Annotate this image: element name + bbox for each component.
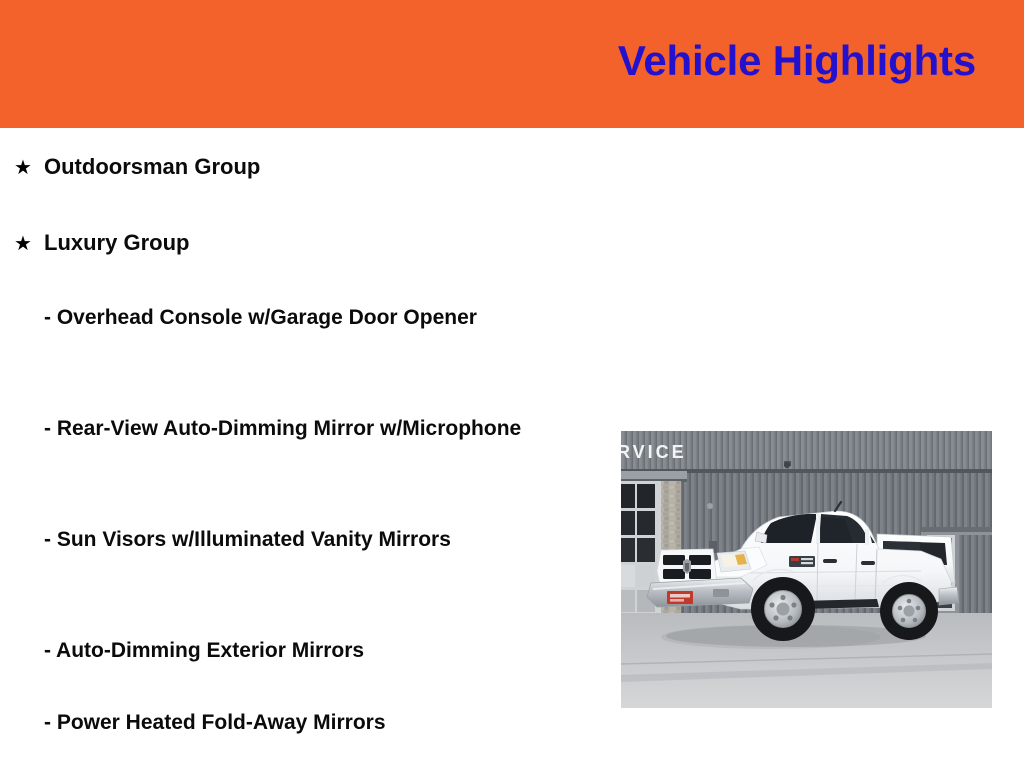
- list-item-feature: - Sun Visors w/Illuminated Vanity Mirror…: [44, 526, 564, 554]
- list-item-feature: - Overhead Console w/Garage Door Opener: [44, 304, 564, 332]
- list-item-group: ★ Luxury Group: [14, 230, 189, 255]
- front-wheel: [751, 577, 815, 641]
- vehicle-photo-illustration: RVICE: [621, 431, 992, 708]
- header-banner: Vehicle Highlights: [0, 0, 1024, 128]
- group-label: Luxury Group: [44, 230, 189, 255]
- rear-wheel: [880, 582, 938, 640]
- list-item-feature: - Power Heated Fold-Away Mirrors: [44, 709, 564, 737]
- svg-text:RVICE: RVICE: [621, 442, 687, 462]
- list-item-group: ★ Outdoorsman Group: [14, 154, 260, 179]
- group-label: Outdoorsman Group: [44, 154, 260, 179]
- list-item-feature: - Auto-Dimming Exterior Mirrors: [44, 637, 564, 665]
- service-sign: RVICE: [621, 442, 687, 462]
- star-bullet-icon: ★: [14, 158, 30, 178]
- star-bullet-icon: ★: [14, 234, 30, 254]
- slide-content: ★ Outdoorsman Group ★ Luxury Group - Ove…: [0, 128, 1024, 768]
- page-title: Vehicle Highlights: [618, 38, 976, 84]
- vehicle-photo: RVICE: [621, 431, 992, 708]
- list-item-feature: - Rear-View Auto-Dimming Mirror w/Microp…: [44, 415, 564, 443]
- ram-badge: [789, 556, 815, 567]
